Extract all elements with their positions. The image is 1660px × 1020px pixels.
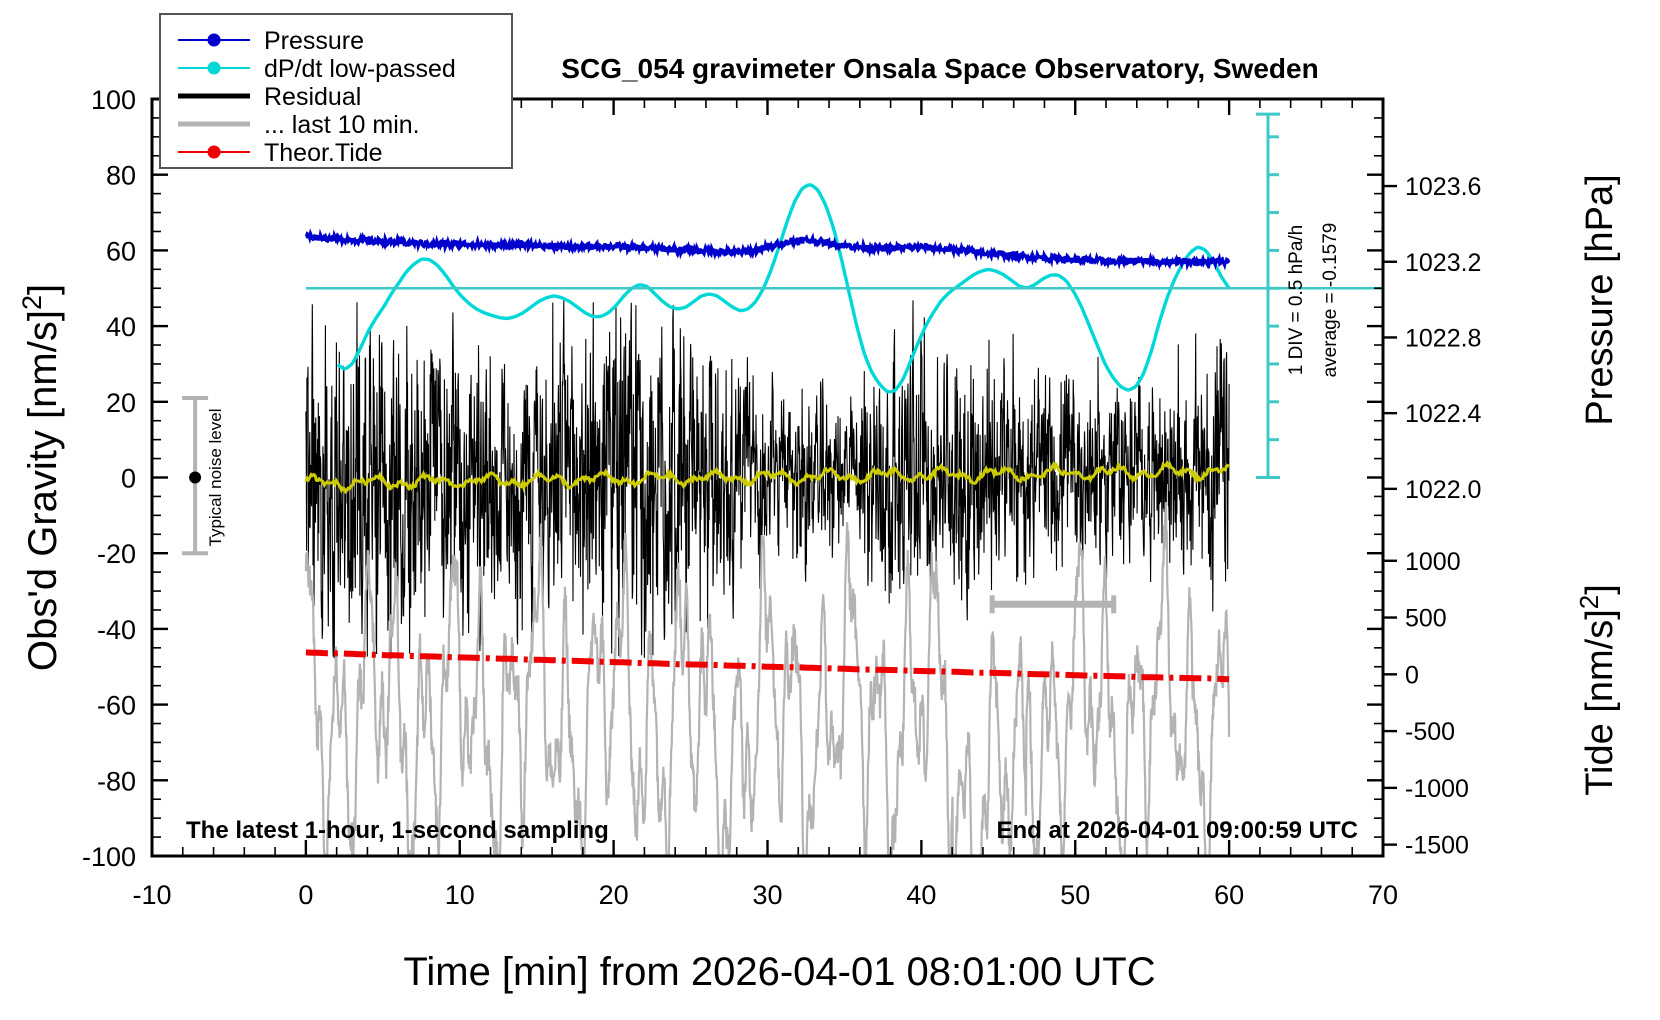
legend-label-5: Theor.Tide [264,139,383,167]
y-axis-right-tide-title: Tide [nm/s]2] [1574,584,1621,796]
scalebar-average-note: average = -0.1579 [1320,223,1341,378]
tide-tick-label-0: 0 [1405,661,1419,689]
y-tick-label--60: -60 [97,691,136,721]
y-tick-label--80: -80 [97,766,136,796]
y-tick-label-40: 40 [106,312,136,342]
noise-level-center-dot [189,472,201,484]
y-tick-label--40: -40 [97,615,136,645]
tide-tick-label-500: 500 [1405,605,1447,633]
legend-label-3: Residual [264,83,361,111]
typical-noise-level-annotation: Typical noise level [182,398,225,553]
legend[interactable]: PressuredP/dt low-passedResidual... last… [160,14,512,168]
series-pressure [306,234,1229,265]
dpdt-scale-bar [1256,114,1280,477]
pressure-tick-label-1023.2: 1023.2 [1405,249,1481,277]
legend-label-2: dP/dt low-passed [264,55,456,83]
x-tick-label-20: 20 [599,880,629,910]
x-tick-label-60: 60 [1214,880,1244,910]
legend-label-4: ... last 10 min. [264,111,420,139]
y-tick-label-80: 80 [106,161,136,191]
y-tick-label-100: 100 [91,85,136,115]
last-10-min-span-bar [992,595,1114,613]
y-tick-label-60: 60 [106,236,136,266]
legend-swatch-marker [208,62,221,75]
x-tick-label-50: 50 [1060,880,1090,910]
pressure-tick-label-1023.6: 1023.6 [1405,173,1481,201]
chart-canvas: -10010203040506070100806040200-20-40-60-… [0,0,1660,1020]
plot-title: SCG_054 gravimeter Onsala Space Observat… [561,53,1318,84]
x-tick-label-0: 0 [298,880,313,910]
x-tick-label-10: 10 [445,880,475,910]
tide-tick-label-1000: 1000 [1405,548,1461,576]
x-tick-label-40: 40 [906,880,936,910]
typical-noise-level-label: Typical noise level [206,409,225,547]
y-tick-label-20: 20 [106,388,136,418]
legend-swatch-marker [208,34,221,47]
y-axis-left-title: Obs'd Gravity [nm/s]2] [17,284,65,671]
x-tick-label-30: 30 [752,880,782,910]
y-tick-label-0: 0 [121,464,136,494]
x-tick-label-70: 70 [1368,880,1398,910]
y-axis-left: 100806040200-20-40-60-80-100Obs'd Gravit… [17,85,168,872]
pressure-tick-label-1022.8: 1022.8 [1405,324,1481,352]
pressure-tick-label-1022.0: 1022.0 [1405,476,1481,504]
legend-swatch-marker [208,146,221,159]
footer-note-right: End at 2026-04-01 09:00:59 UTC [997,817,1359,844]
y-axis-right-pressure-title: Pressure [hPa] [1579,174,1621,425]
scalebar-div-note: 1 DIV = 0.5 hPa/h [1286,225,1307,376]
x-axis-title: Time [min] from 2026-04-01 08:01:00 UTC [403,950,1155,994]
gravimeter-chart-svg: -10010203040506070100806040200-20-40-60-… [0,0,1660,1020]
legend-label-1: Pressure [264,27,364,55]
y-tick-label--100: -100 [82,842,136,872]
tide-tick-label--1000: -1000 [1405,775,1469,803]
pressure-tick-label-1022.4: 1022.4 [1405,400,1482,428]
tide-tick-label--500: -500 [1405,718,1455,746]
y-tick-label--20: -20 [97,539,136,569]
tide-tick-label--1500: -1500 [1405,832,1469,860]
x-tick-label--10: -10 [132,880,171,910]
footer-note-left: The latest 1-hour, 1-second sampling [186,817,609,844]
